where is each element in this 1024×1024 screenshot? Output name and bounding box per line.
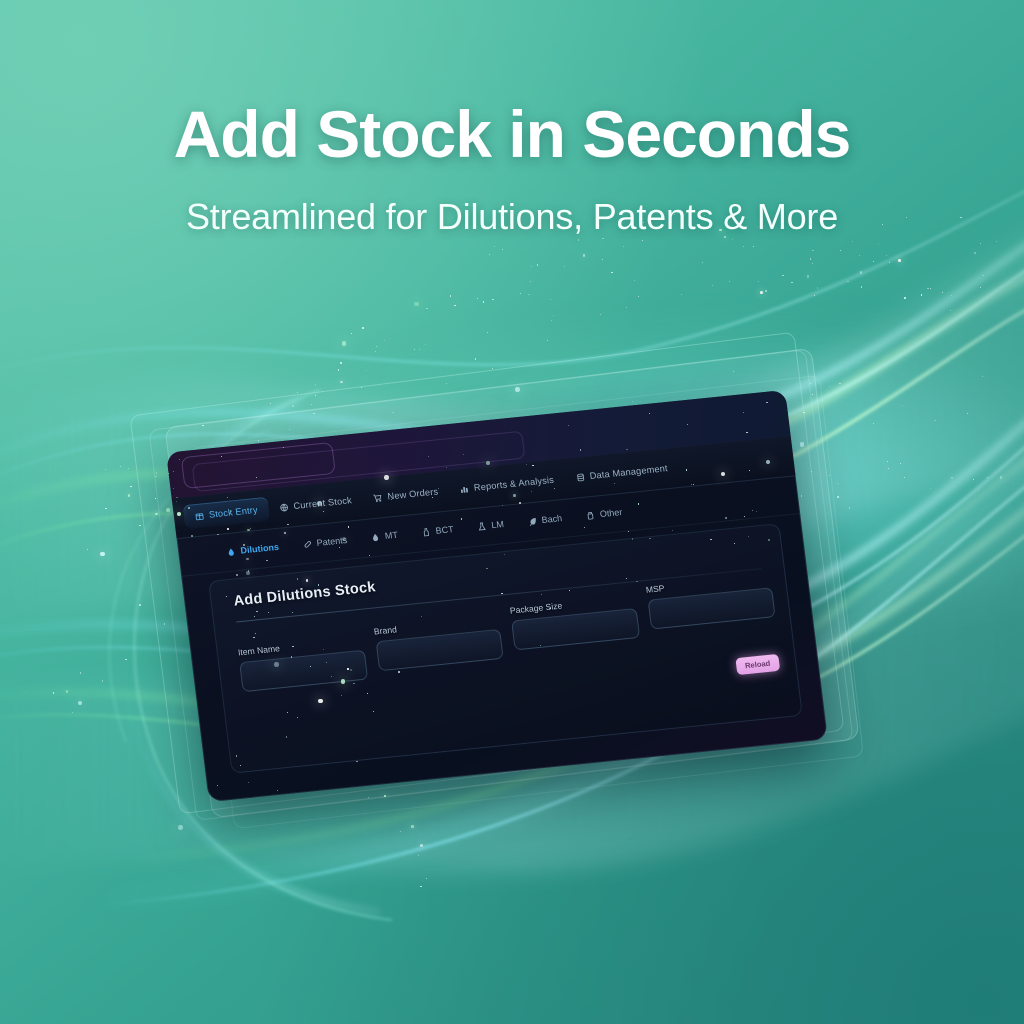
nav-item-stock-entry[interactable]: Stock Entry [183, 497, 270, 529]
subnav-item-dilutions[interactable]: Dilutions [213, 535, 292, 565]
form-title: Add Dilutions Stock [233, 579, 377, 609]
subnav-label: Bach [541, 513, 563, 525]
nav-label: Reports & Analysis [473, 475, 554, 493]
cart-icon [373, 493, 383, 503]
droplet-icon [370, 532, 380, 542]
field-msp: MSP [645, 572, 778, 650]
database-icon [575, 472, 585, 482]
flask-icon [477, 521, 487, 531]
reload-button[interactable]: Reload [735, 654, 780, 675]
nav-item-data-management[interactable]: Data Management [563, 455, 680, 490]
nav-item-new-orders[interactable]: New Orders [361, 478, 450, 511]
globe-icon [279, 502, 289, 512]
subnav-label: MT [384, 530, 398, 541]
nav-label: New Orders [387, 486, 439, 501]
nav-label: Data Management [589, 463, 668, 481]
subnav-label: LM [491, 519, 505, 530]
subnav-label: Dilutions [240, 542, 280, 556]
subnav-label: BCT [435, 524, 454, 536]
bottle-icon [421, 527, 431, 537]
leaf-icon [527, 516, 537, 526]
subnav-label: Patents [316, 535, 348, 548]
brand-input[interactable] [375, 629, 504, 671]
field-package-size: Package Size [509, 593, 641, 664]
subnav-item-patents[interactable]: Patents [289, 528, 360, 557]
nav-label: Stock Entry [208, 505, 258, 520]
droplet-icon [226, 547, 236, 557]
page-title: Add Stock in Seconds [0, 96, 1024, 172]
bar-chart-icon [459, 484, 469, 494]
package-size-input[interactable] [511, 608, 640, 650]
dashboard-panel: Stock Entry Current Stock [166, 390, 828, 802]
box-icon [194, 511, 204, 521]
poster-canvas: Stock Entry Current Stock [0, 0, 1024, 1024]
subnav-item-lm[interactable]: LM [464, 512, 517, 539]
nav-label: Current Stock [293, 495, 352, 511]
jar-icon [585, 510, 595, 520]
subnav-item-mt[interactable]: MT [358, 523, 411, 550]
page-subtitle: Streamlined for Dilutions, Patents & Mor… [0, 196, 1024, 238]
subnav-item-other[interactable]: Other [573, 500, 636, 528]
subnav-item-bach[interactable]: Bach [514, 506, 575, 534]
panel-surface: Stock Entry Current Stock [166, 390, 828, 802]
msp-input[interactable] [647, 587, 776, 629]
field-brand: Brand [373, 614, 504, 678]
subnav-label: Other [599, 507, 623, 519]
pill-icon [302, 539, 312, 549]
field-item-name: Item Name [237, 635, 367, 692]
nav-item-reports-analysis[interactable]: Reports & Analysis [448, 467, 567, 503]
subnav-item-bct[interactable]: BCT [408, 517, 466, 544]
nav-item-current-stock[interactable]: Current Stock [267, 487, 364, 520]
item-name-input[interactable] [239, 650, 368, 692]
